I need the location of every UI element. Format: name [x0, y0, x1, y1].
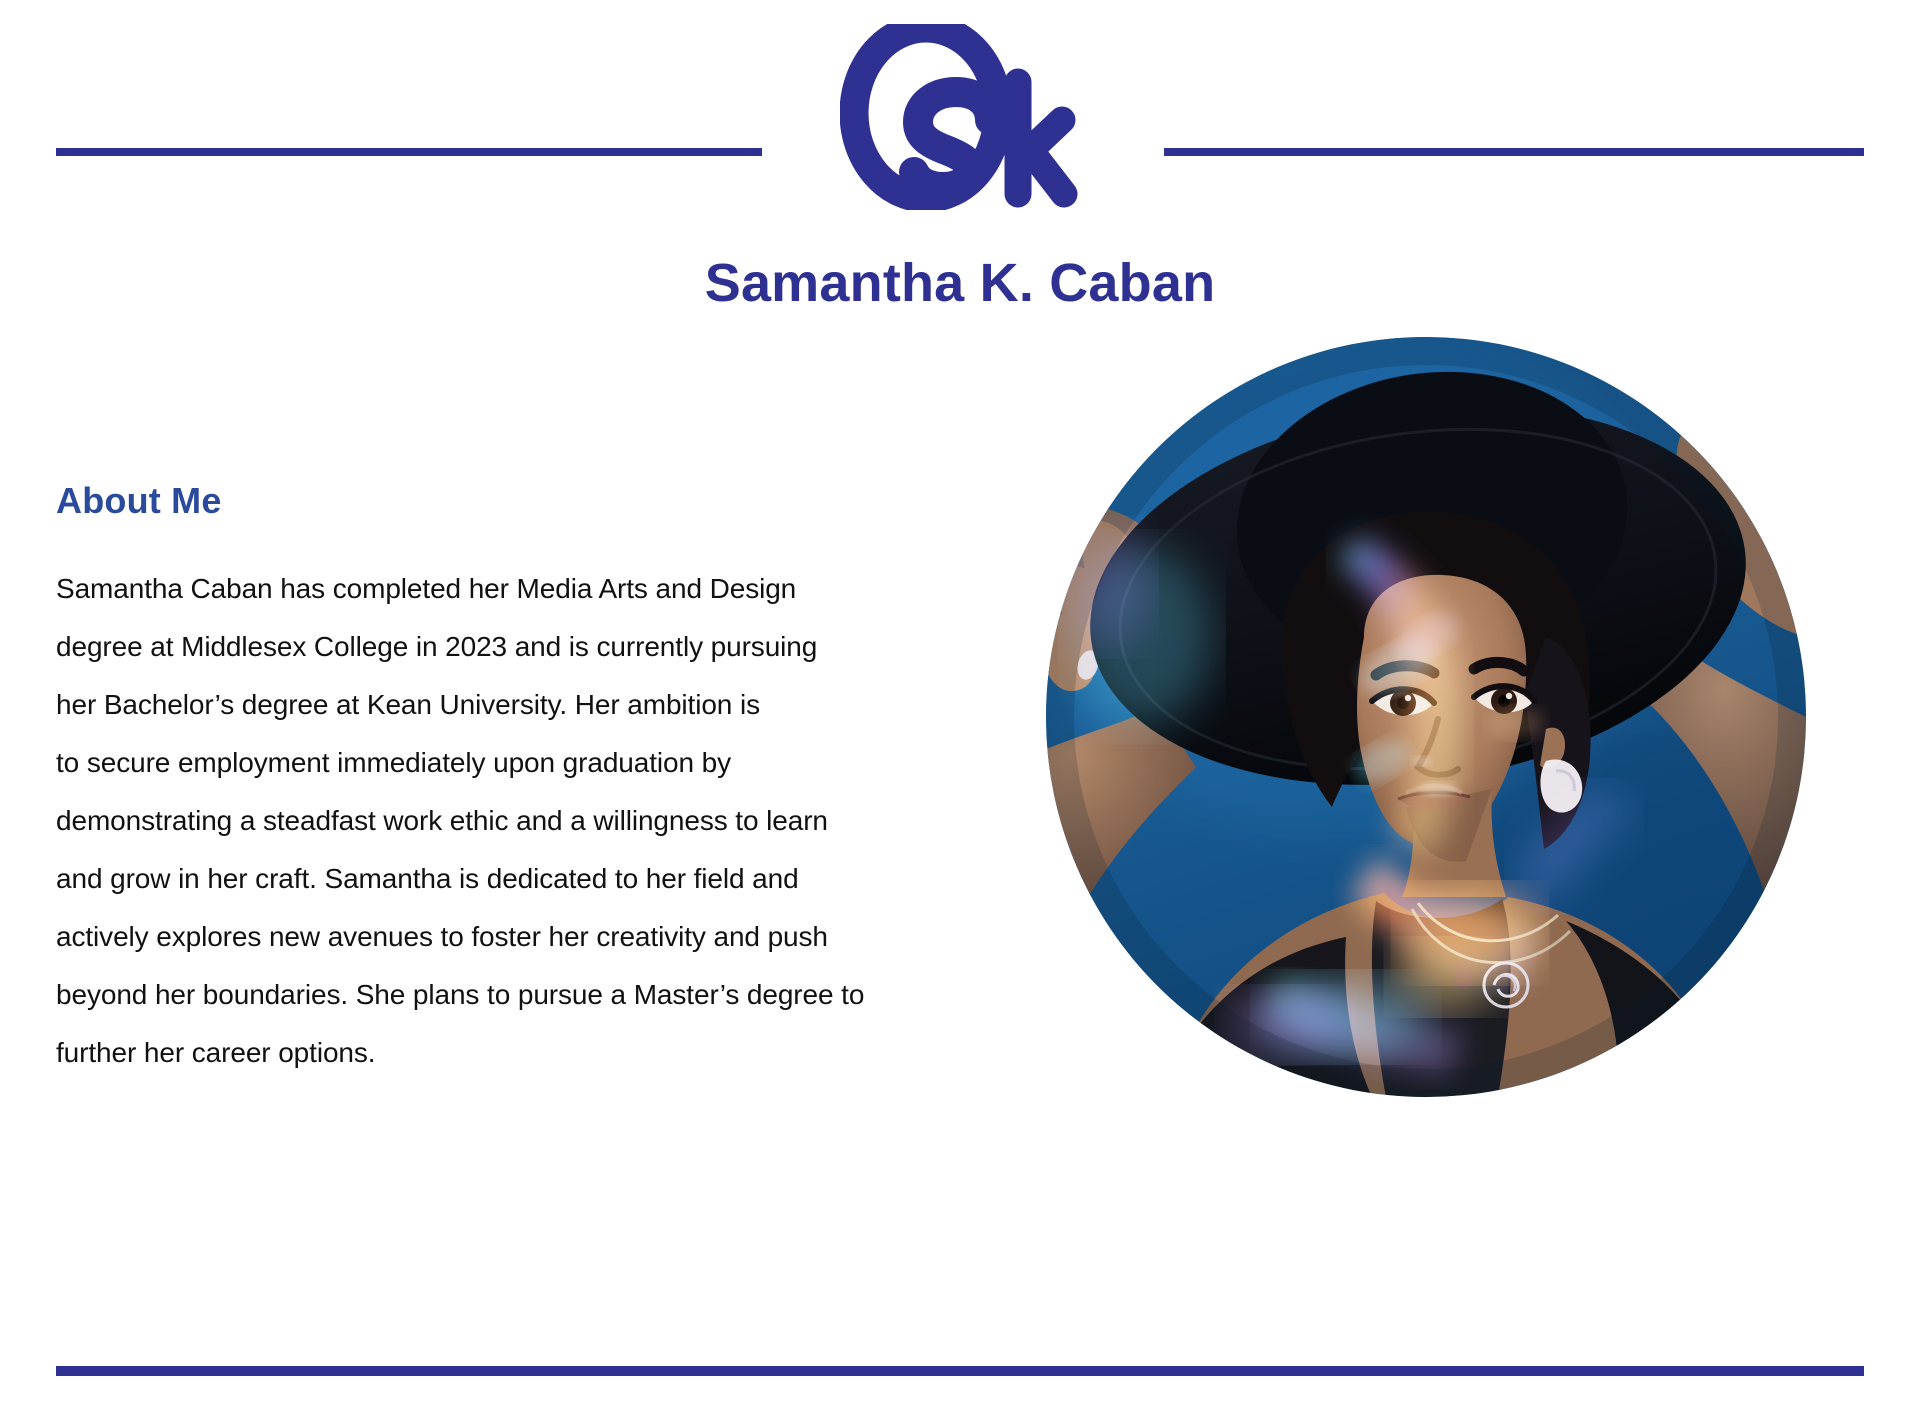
- about-heading: About Me: [56, 480, 976, 522]
- sk-monogram-logo: [0, 22, 1920, 212]
- slide-page: Samantha K. Caban About Me Samantha Caba…: [0, 0, 1920, 1412]
- main-content: About Me Samantha Caban has completed he…: [0, 340, 1920, 1350]
- footer-rule: [56, 1366, 1864, 1376]
- header-rule-left: [56, 148, 762, 156]
- brand-name: Samantha K. Caban: [0, 255, 1920, 312]
- header-rule-right: [1164, 148, 1864, 156]
- about-body-text: Samantha Caban has completed her Media A…: [56, 560, 976, 1082]
- about-section: About Me Samantha Caban has completed he…: [56, 480, 976, 1082]
- page-header: Samantha K. Caban: [0, 0, 1920, 340]
- portrait-photo: [1046, 337, 1806, 1097]
